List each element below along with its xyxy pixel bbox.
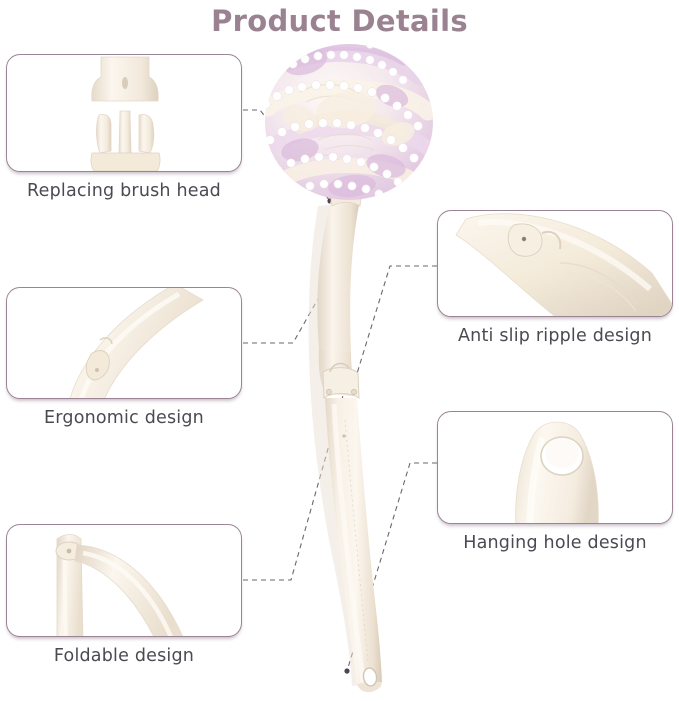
- product-loofah-head: [262, 34, 433, 200]
- photo-hanging-hole-closeup: [438, 412, 672, 523]
- photo-curved-handle-closeup: [7, 288, 241, 398]
- callout-replacing-brush-head[interactable]: Replacing brush head: [6, 54, 242, 201]
- callout-ergonomic-design[interactable]: Ergonomic design: [6, 287, 242, 428]
- callout-caption-anti-slip-ripple-design: Anti slip ripple design: [437, 326, 673, 346]
- product-handle: [309, 187, 382, 692]
- callout-photo-replacing-brush-head: [6, 54, 242, 172]
- callout-photo-hanging-hole-design: [437, 411, 673, 524]
- photo-ripple-grip-closeup: [438, 211, 672, 316]
- callout-photo-anti-slip-ripple-design: [437, 210, 673, 317]
- callout-caption-foldable-design: Foldable design: [6, 646, 242, 666]
- photo-detachable-brush-head-connector: [7, 55, 241, 171]
- callout-foldable-design[interactable]: Foldable design: [6, 524, 242, 666]
- product-details-infographic: Product Details: [0, 0, 679, 701]
- callout-hanging-hole-design[interactable]: Hanging hole design: [437, 411, 673, 553]
- callout-caption-hanging-hole-design: Hanging hole design: [437, 533, 673, 553]
- callout-caption-replacing-brush-head: Replacing brush head: [6, 181, 242, 201]
- callout-photo-foldable-design: [6, 524, 242, 637]
- callout-caption-ergonomic-design: Ergonomic design: [6, 408, 242, 428]
- callout-photo-ergonomic-design: [6, 287, 242, 399]
- photo-folding-hinge-closeup: [7, 525, 241, 636]
- callout-anti-slip-ripple-design[interactable]: Anti slip ripple design: [437, 210, 673, 346]
